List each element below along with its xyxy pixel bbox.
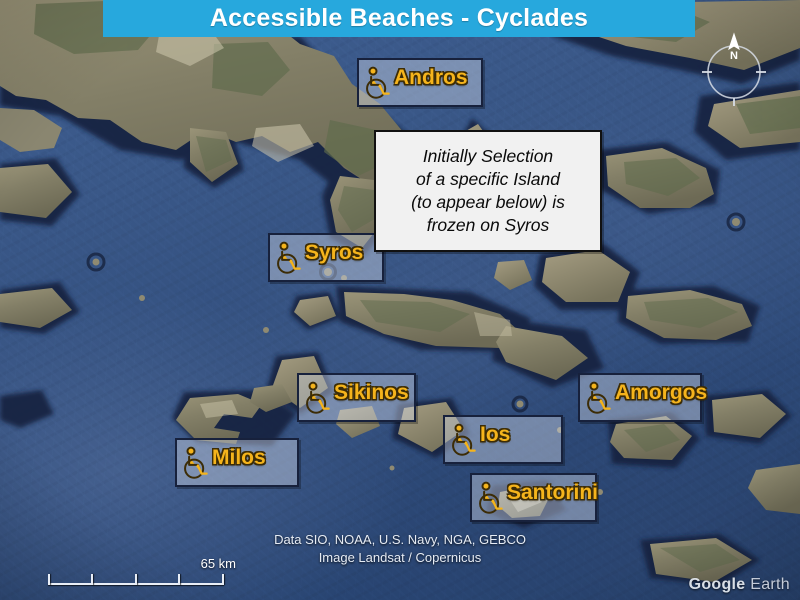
callout-line-3: (to appear below) is [411, 191, 565, 214]
scale-bar: 65 km [48, 563, 224, 585]
island-label-text: Milos [212, 446, 266, 470]
wheelchair-icon [181, 446, 211, 480]
wheelchair-icon [303, 381, 333, 415]
scale-tick [91, 574, 93, 585]
compass-north-letter: N [730, 50, 738, 62]
callout-line-4: frozen on Syros [427, 214, 550, 237]
scale-bar-label: 65 km [201, 556, 236, 571]
google-earth-watermark: Google Earth [689, 576, 790, 594]
map-screenshot: Accessible Beaches - Cyclades N AndrosSy… [0, 0, 800, 600]
wheelchair-icon [363, 66, 393, 100]
watermark-brand: Google [689, 576, 746, 593]
scale-tick [222, 574, 224, 585]
info-callout: Initially Selection of a specific Island… [374, 130, 602, 252]
scale-tick [135, 574, 137, 585]
wheelchair-icon [584, 381, 614, 415]
title-banner: Accessible Beaches - Cyclades [103, 0, 695, 37]
scale-tick [48, 574, 50, 585]
island-label-text: Andros [394, 66, 468, 90]
wheelchair-icon [449, 423, 479, 457]
callout-line-1: Initially Selection [423, 145, 553, 168]
island-label-syros[interactable]: Syros [268, 233, 384, 282]
attribution-line-1: Data SIO, NOAA, U.S. Navy, NGA, GEBCO [0, 531, 800, 549]
island-label-santorini[interactable]: Santorini [470, 473, 597, 522]
island-label-sikinos[interactable]: Sikinos [297, 373, 416, 422]
watermark-product: Earth [750, 576, 790, 593]
island-label-text: Syros [305, 241, 363, 265]
island-label-text: Ios [480, 423, 510, 447]
island-label-text: Santorini [507, 481, 598, 505]
wheelchair-icon [274, 241, 304, 275]
callout-line-2: of a specific Island [416, 168, 560, 191]
island-label-ios[interactable]: Ios [443, 415, 563, 464]
north-compass-icon: N [697, 32, 771, 106]
island-label-amorgos[interactable]: Amorgos [578, 373, 702, 422]
scale-tick [178, 574, 180, 585]
island-label-andros[interactable]: Andros [357, 58, 483, 107]
island-label-text: Sikinos [334, 381, 409, 405]
island-label-milos[interactable]: Milos [175, 438, 299, 487]
page-title: Accessible Beaches - Cyclades [210, 4, 588, 33]
island-label-text: Amorgos [615, 381, 707, 405]
wheelchair-icon [476, 481, 506, 515]
